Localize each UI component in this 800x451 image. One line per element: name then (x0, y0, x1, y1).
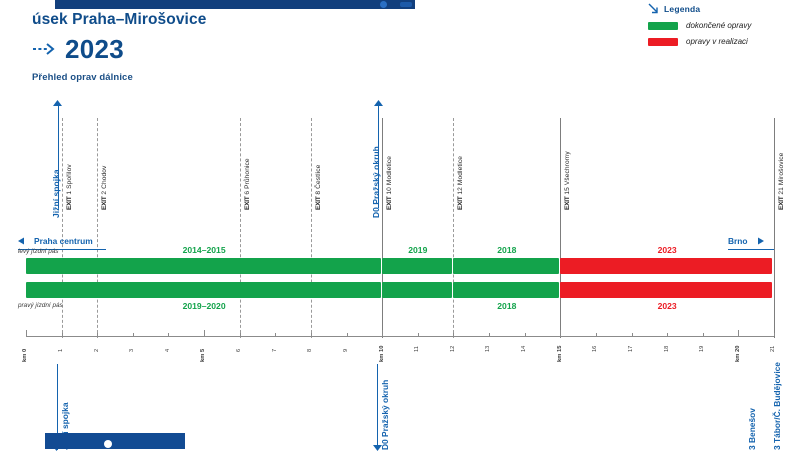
legend-title: Legenda (664, 4, 700, 14)
arrow-left-icon (18, 237, 31, 245)
km-tick-label: km 10 (379, 346, 385, 362)
arrow-right-icon (751, 237, 764, 245)
bar-segment[interactable] (26, 258, 381, 274)
legend-swatch-red (648, 38, 678, 46)
km-tick-label: 9 (343, 349, 349, 352)
km-tick-label: 18 (664, 346, 670, 352)
km-tick (347, 333, 348, 336)
legend-item-completed: dokončené opravy (648, 21, 778, 30)
segment-year-label: 2019 (382, 245, 453, 255)
exit-badge-icon: EXIT (386, 197, 393, 210)
km-tick (62, 333, 63, 336)
route-callout-arrow-up-icon (53, 100, 62, 107)
legend-swatch-green (648, 22, 678, 30)
marker-icon (103, 439, 113, 449)
route-callout-bottom-label: D0 Pražský okruh (380, 380, 390, 450)
km-tick-label: km 15 (557, 346, 563, 362)
bottom-blue-box (45, 433, 185, 449)
exit-badge-icon: EXIT (564, 197, 571, 210)
page-title: úsek Praha–Mirošovice (32, 11, 452, 29)
repairs-timeline-chart: EXIT 1 SpořilovEXIT 2 ChodovEXIT 6 Průho… (0, 100, 800, 360)
exit-label-text: 2 Chodov (101, 166, 108, 195)
bar-segment[interactable] (453, 258, 558, 274)
km-tick (311, 333, 312, 336)
km-tick (703, 333, 704, 336)
km-tick (275, 333, 276, 336)
km-axis-line (26, 336, 774, 337)
page-subtitle: Přehled oprav dálnice (32, 72, 452, 83)
km-tick-label: 7 (272, 349, 278, 352)
km-tick-label: 6 (236, 349, 242, 352)
km-tick (418, 333, 419, 336)
km-tick-label: km 5 (200, 349, 206, 362)
bar-segment[interactable] (560, 282, 772, 298)
segment-year-label: 2023 (560, 301, 774, 311)
route-callout-bottom-rule (377, 364, 378, 450)
exit-badge-icon: EXIT (66, 197, 73, 210)
top-banner-bar (55, 0, 415, 9)
km-tick (738, 330, 739, 336)
km-tick (453, 333, 454, 336)
legend-label-completed: dokončené opravy (686, 21, 751, 30)
km-tick-label: 14 (521, 346, 527, 352)
exit-label-text: 12 Modletice (457, 156, 464, 195)
exit-label-text: 6 Průhonice (244, 158, 251, 194)
route-callout-bottom-label: 3 Tábor/Č. Budějovice (772, 362, 782, 450)
km-tick-label: 12 (450, 346, 456, 352)
year-row: 2023 (32, 36, 452, 62)
km-tick (489, 333, 490, 336)
dot-icon (380, 1, 387, 8)
legend-header: Legenda (648, 3, 778, 14)
exit-label-text: 1 Spořilov (66, 164, 73, 194)
km-tick-label: 2 (94, 349, 100, 352)
bar-segment[interactable] (382, 258, 452, 274)
km-tick (774, 333, 775, 336)
segment-year-label: 2018 (453, 245, 560, 255)
exit-badge-icon: EXIT (244, 197, 251, 210)
km-tick-label: 11 (414, 346, 420, 352)
km-tick (240, 333, 241, 336)
legend-item-inprogress: opravy v realizaci (648, 37, 778, 46)
legend-label-inprogress: opravy v realizaci (686, 37, 748, 46)
bar-segment[interactable] (382, 282, 452, 298)
km-tick (97, 333, 98, 336)
segment-year-label: 2023 (560, 245, 774, 255)
km-tick (26, 330, 27, 336)
km-tick (560, 330, 561, 336)
headline-block: úsek Praha–Mirošovice 2023 Přehled oprav… (32, 11, 452, 83)
bar-segment[interactable] (26, 282, 381, 298)
exit-badge-icon: EXIT (778, 197, 785, 210)
km-tick-label: 16 (592, 346, 598, 352)
km-tick-label: km 0 (22, 349, 28, 362)
bar-segment[interactable] (560, 258, 772, 274)
dashed-arrow-right-icon (32, 42, 58, 56)
km-tick-label: 3 (129, 349, 135, 352)
km-tick-label: 4 (165, 349, 171, 352)
km-tick-label: 17 (628, 346, 634, 352)
km-tick-label: 13 (485, 346, 491, 352)
km-tick-label: km 20 (735, 346, 741, 362)
km-tick (204, 330, 205, 336)
pill-icon (400, 2, 412, 7)
km-tick-label: 19 (699, 346, 705, 352)
km-tick (667, 333, 668, 336)
route-callout-arrow-up-icon (374, 100, 383, 107)
exit-badge-icon: EXIT (457, 197, 464, 210)
legend: Legenda dokončené opravy opravy v realiz… (648, 3, 778, 46)
km-tick (632, 333, 633, 336)
chart-plot-area: EXIT 1 SpořilovEXIT 2 ChodovEXIT 6 Průho… (18, 100, 782, 360)
route-callout-top-label: D0 Pražský okruh (371, 146, 381, 218)
km-tick (596, 333, 597, 336)
route-callout-arrow-down-icon (373, 444, 382, 451)
segment-year-label: 2018 (453, 301, 560, 311)
exit-badge-icon: EXIT (315, 197, 322, 210)
year-label: 2023 (65, 36, 124, 62)
exit-label-text: 10 Modletice (386, 156, 393, 195)
exit-guide-line (774, 118, 775, 338)
exit-label-text: 15 Všechromy (564, 151, 571, 194)
exit-label-text: 8 Čestlice (315, 165, 322, 195)
km-tick (382, 330, 383, 336)
km-tick (168, 333, 169, 336)
arrow-down-right-icon (648, 3, 659, 14)
route-callout-bottom-label: 3 Benešov (747, 408, 757, 450)
route-callout-top-label: Jižní spojka (51, 169, 61, 218)
km-tick (133, 333, 134, 336)
km-tick-label: 21 (770, 346, 776, 352)
km-tick (525, 333, 526, 336)
exit-label-text: 21 Mirošovice (778, 153, 785, 195)
exit-guide-line (382, 118, 383, 338)
segment-year-label: 2014–2015 (26, 245, 382, 255)
km-tick-label: 1 (58, 349, 64, 352)
exit-badge-icon: EXIT (101, 197, 108, 210)
segment-year-label: 2019–2020 (26, 301, 382, 311)
bar-segment[interactable] (453, 282, 558, 298)
km-tick-label: 8 (307, 349, 313, 352)
